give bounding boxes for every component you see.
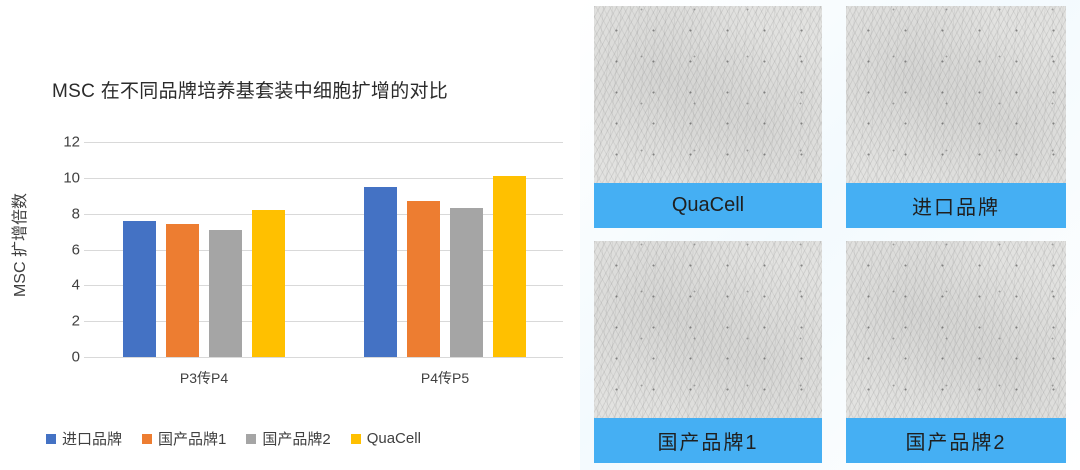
micrograph-image (594, 6, 822, 183)
chart-legend: 进口品牌国产品牌1国产品牌2QuaCell (46, 428, 421, 449)
legend-item[interactable]: 国产品牌2 (246, 428, 330, 449)
slide-root: MSC 在不同品牌培养基套装中细胞扩增的对比 MSC 扩增倍数 02468101… (0, 0, 1080, 470)
y-tick-label: 12 (40, 134, 80, 151)
micrograph-image (846, 241, 1066, 418)
legend-label: 进口品牌 (62, 428, 122, 449)
bar (450, 208, 483, 357)
bar (209, 230, 242, 357)
cell-speckle-texture (846, 241, 1066, 418)
y-tick-label: 10 (40, 169, 80, 186)
micrograph-card: QuaCell (594, 6, 822, 228)
bar (407, 201, 440, 357)
cell-speckle-texture (846, 6, 1066, 183)
micrograph-image (594, 241, 822, 418)
legend-swatch-icon (351, 434, 361, 444)
gridline (84, 357, 563, 358)
plot-area (84, 142, 563, 357)
cell-speckle-texture (594, 241, 822, 418)
bar (252, 210, 285, 357)
bar (364, 187, 397, 357)
legend-label: QuaCell (367, 430, 421, 447)
micrograph-caption: 国产品牌1 (594, 418, 822, 463)
gridline (84, 178, 563, 179)
x-tick-label: P3传P4 (93, 368, 315, 388)
y-tick-label: 2 (40, 313, 80, 330)
legend-item[interactable]: 国产品牌1 (142, 428, 226, 449)
x-tick-label: P4传P5 (334, 368, 556, 388)
legend-swatch-icon (246, 434, 256, 444)
micrograph-image (846, 6, 1066, 183)
legend-item[interactable]: QuaCell (351, 430, 421, 447)
gridline (84, 214, 563, 215)
legend-swatch-icon (142, 434, 152, 444)
chart-title: MSC 在不同品牌培养基套装中细胞扩增的对比 (52, 76, 552, 103)
y-tick-label: 6 (40, 241, 80, 258)
cell-speckle-texture (594, 6, 822, 183)
micrograph-caption: 进口品牌 (846, 183, 1066, 228)
y-axis-tick-labels: 024681012 (36, 142, 80, 357)
y-tick-label: 0 (40, 349, 80, 366)
bar (123, 221, 156, 357)
legend-label: 国产品牌1 (158, 428, 226, 449)
y-tick-label: 8 (40, 205, 80, 222)
y-axis-title: MSC 扩增倍数 (6, 160, 30, 330)
bar-chart-panel: MSC 在不同品牌培养基套装中细胞扩增的对比 MSC 扩增倍数 02468101… (0, 0, 580, 470)
legend-label: 国产品牌2 (262, 428, 330, 449)
legend-item[interactable]: 进口品牌 (46, 428, 122, 449)
micrograph-grid: QuaCell进口品牌国产品牌1国产品牌2 (580, 0, 1080, 470)
micrograph-card: 国产品牌2 (846, 241, 1066, 463)
bar (493, 176, 526, 357)
bar (166, 224, 199, 357)
gridline (84, 142, 563, 143)
micrograph-caption: QuaCell (594, 183, 822, 228)
micrograph-caption: 国产品牌2 (846, 418, 1066, 463)
y-tick-label: 4 (40, 277, 80, 294)
legend-swatch-icon (46, 434, 56, 444)
micrograph-card: 国产品牌1 (594, 241, 822, 463)
micrograph-card: 进口品牌 (846, 6, 1066, 228)
